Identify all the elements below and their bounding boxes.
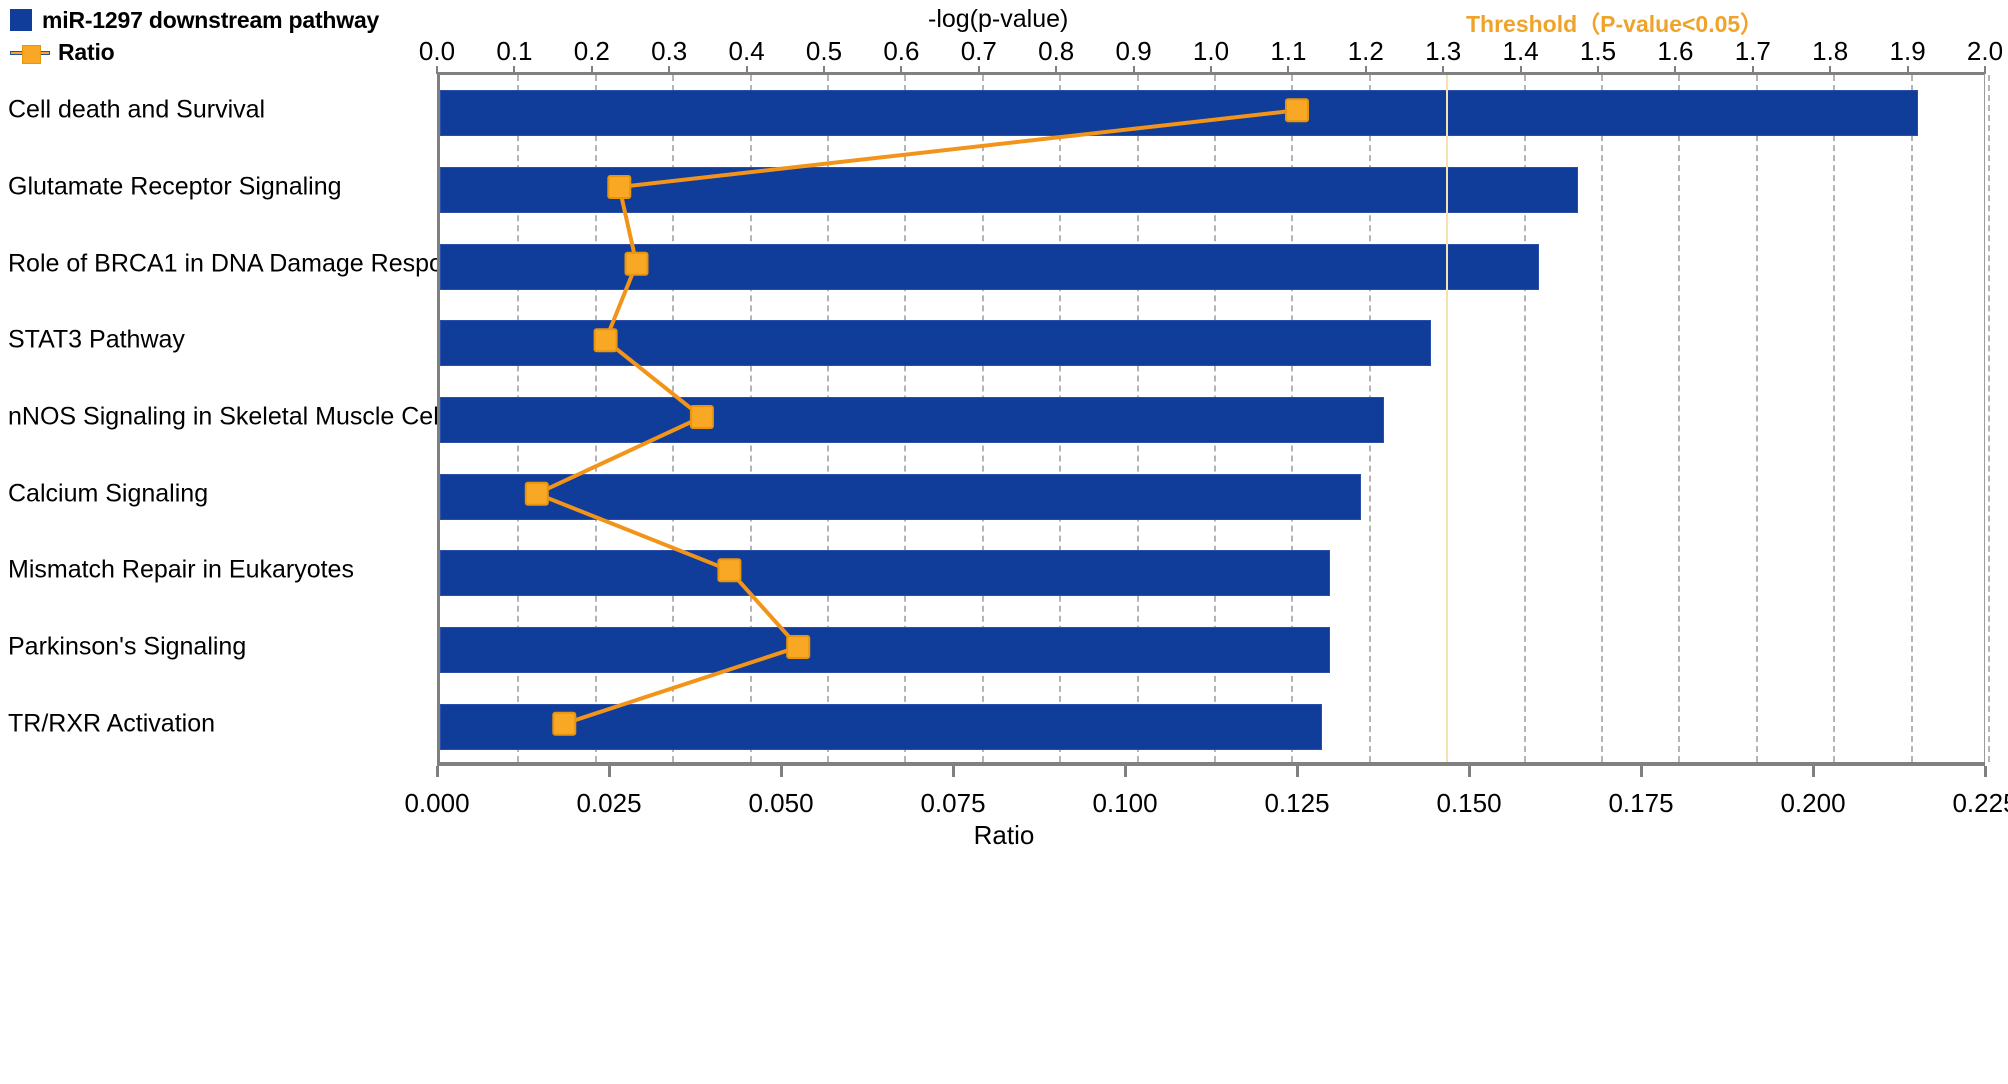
bar[interactable] xyxy=(440,244,1539,290)
top-axis-tick-label: 1.4 xyxy=(1503,36,1539,67)
gridline xyxy=(1911,75,1913,762)
gridline xyxy=(1678,75,1680,762)
threshold-label: Threshold（P-value<0.05） xyxy=(1466,5,1763,39)
bottom-axis-tick-label: 0.100 xyxy=(1092,788,1157,819)
top-axis-tick-label: 0.3 xyxy=(651,36,687,67)
category-label: TR/RXR Activation xyxy=(8,709,215,738)
bottom-axis-tick-label: 0.225 xyxy=(1952,788,2008,819)
bar[interactable] xyxy=(440,474,1361,520)
bottom-axis-tick-mark xyxy=(1124,766,1127,777)
bar[interactable] xyxy=(440,90,1918,136)
bottom-axis-tick-mark xyxy=(1640,766,1643,777)
bar[interactable] xyxy=(440,397,1384,443)
bottom-axis-tick-label: 0.200 xyxy=(1780,788,1845,819)
top-axis-title: -log(p-value) xyxy=(928,5,1068,34)
bottom-axis-tick-label: 0.075 xyxy=(920,788,985,819)
bar[interactable] xyxy=(440,167,1578,213)
bottom-axis-title: Ratio xyxy=(0,820,2008,851)
legend-item-bar[interactable]: miR-1297 downstream pathway xyxy=(10,4,379,36)
category-label: Mismatch Repair in Eukaryotes xyxy=(8,556,354,585)
top-axis-tick-label: 1.1 xyxy=(1270,36,1306,67)
bottom-axis-tick-mark xyxy=(1984,766,1987,777)
gridline xyxy=(1601,75,1603,762)
top-axis-tick-label: 1.8 xyxy=(1812,36,1848,67)
bottom-axis-tick-mark xyxy=(436,766,439,777)
chart-canvas: miR-1297 downstream pathway Ratio -log(p… xyxy=(0,0,2008,1084)
bottom-axis-tick-mark xyxy=(1812,766,1815,777)
legend-item-label: miR-1297 downstream pathway xyxy=(42,7,379,34)
top-axis-tick-label: 2.0 xyxy=(1967,36,2003,67)
threshold-line xyxy=(1446,75,1448,762)
top-axis-tick-label: 1.6 xyxy=(1657,36,1693,67)
bar[interactable] xyxy=(440,320,1431,366)
gridline xyxy=(1833,75,1835,762)
category-label: Cell death and Survival xyxy=(8,96,265,125)
legend-bar-swatch-icon xyxy=(10,9,32,31)
bottom-axis-tick-label: 0.000 xyxy=(404,788,469,819)
top-axis-tick-label: 1.2 xyxy=(1348,36,1384,67)
category-label: nNOS Signaling in Skeletal Muscle Cells xyxy=(8,403,457,432)
bottom-axis-tick-label: 0.125 xyxy=(1264,788,1329,819)
category-label: Glutamate Receptor Signaling xyxy=(8,173,342,202)
legend-line-marker-icon xyxy=(10,41,50,63)
bottom-axis-tick-label: 0.050 xyxy=(748,788,813,819)
top-axis-tick-label: 0.9 xyxy=(1116,36,1152,67)
top-axis-tick-label: 0.2 xyxy=(574,36,610,67)
top-axis-tick-label: 1.9 xyxy=(1890,36,1926,67)
top-axis-tick-label: 0.6 xyxy=(883,36,919,67)
top-axis-tick-label: 1.0 xyxy=(1193,36,1229,67)
gridline xyxy=(1988,75,1990,762)
legend-item-label: Ratio xyxy=(58,39,115,66)
bar[interactable] xyxy=(440,550,1330,596)
bottom-axis-tick-mark xyxy=(952,766,955,777)
top-axis-tick-label: 1.5 xyxy=(1580,36,1616,67)
legend-item-ratio[interactable]: Ratio xyxy=(10,36,379,68)
top-axis-tick-label: 0.0 xyxy=(419,36,455,67)
legend: miR-1297 downstream pathway Ratio xyxy=(10,4,379,68)
category-label: STAT3 Pathway xyxy=(8,326,185,355)
bottom-axis-tick-mark xyxy=(1296,766,1299,777)
bottom-axis-tick-mark xyxy=(780,766,783,777)
top-axis-tick-label: 0.4 xyxy=(729,36,765,67)
top-axis-tick-label: 0.5 xyxy=(806,36,842,67)
category-label: Role of BRCA1 in DNA Damage Response xyxy=(8,249,483,278)
bar[interactable] xyxy=(440,627,1330,673)
top-axis-tick-label: 0.8 xyxy=(1038,36,1074,67)
top-axis-tick-label: 1.3 xyxy=(1425,36,1461,67)
bottom-axis-tick-label: 0.175 xyxy=(1608,788,1673,819)
category-label: Calcium Signaling xyxy=(8,479,208,508)
plot-area xyxy=(437,72,1985,762)
bar[interactable] xyxy=(440,704,1322,750)
bottom-axis-tick-mark xyxy=(608,766,611,777)
bottom-axis-tick-mark xyxy=(1468,766,1471,777)
category-label: Parkinson's Signaling xyxy=(8,633,246,662)
top-axis-tick-label: 0.1 xyxy=(496,36,532,67)
bottom-axis: 0.0000.0250.0500.0750.1000.1250.1500.175… xyxy=(437,762,1985,766)
bottom-axis-tick-label: 0.150 xyxy=(1436,788,1501,819)
top-axis-tick-label: 1.7 xyxy=(1735,36,1771,67)
bottom-axis-tick-label: 0.025 xyxy=(576,788,641,819)
top-axis-tick-label: 0.7 xyxy=(961,36,997,67)
gridline xyxy=(1756,75,1758,762)
